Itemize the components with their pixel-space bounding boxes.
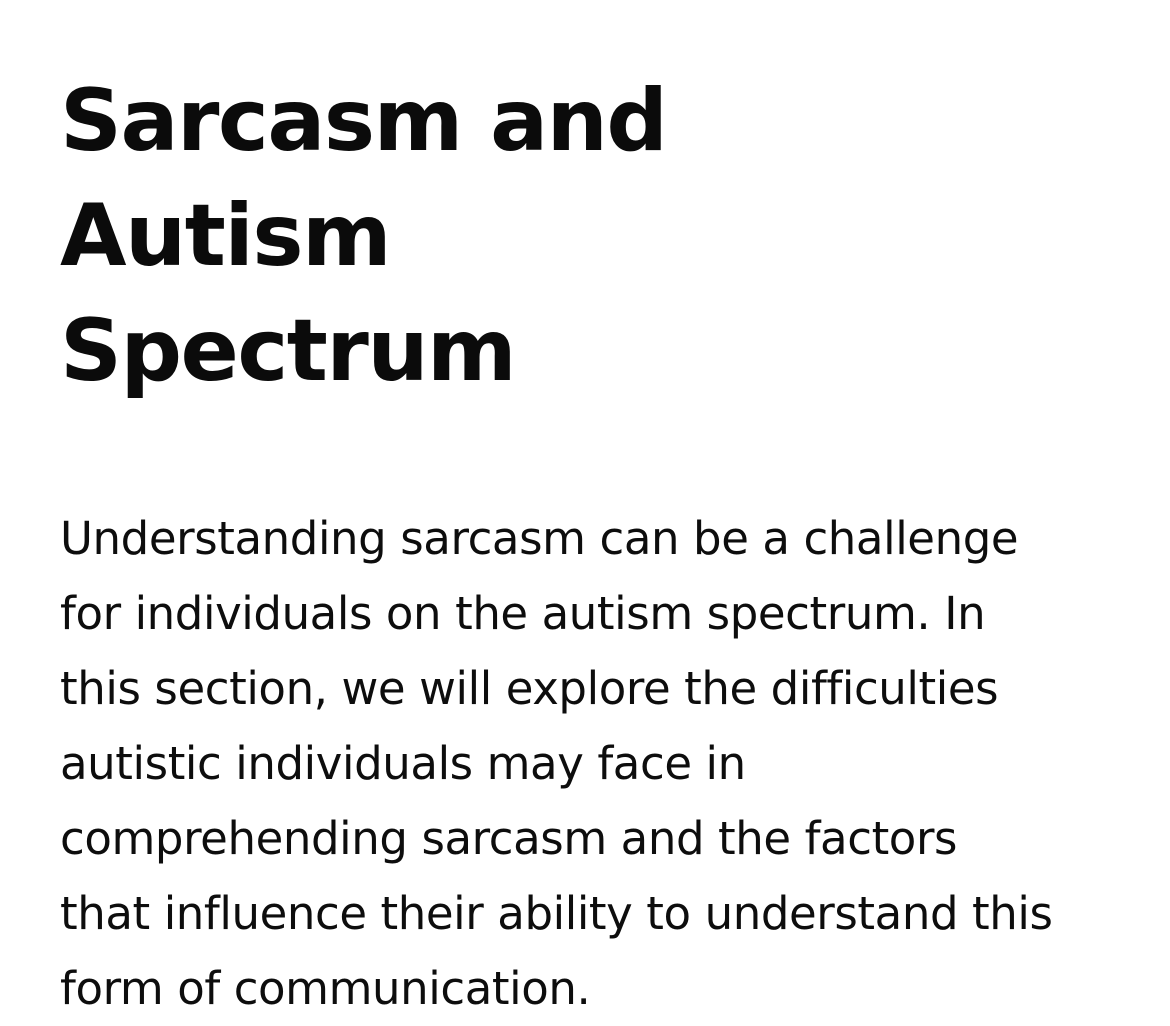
body-line: autistic individuals may face in [60, 726, 1120, 801]
body-line: that influence their ability to understa… [60, 876, 1120, 951]
body-line: this section, we will explore the diffic… [60, 651, 1120, 726]
section-body-paragraph: Understanding sarcasm can be a challenge… [60, 409, 1120, 1026]
content-container: Sarcasm and AutismSpectrum Understanding… [60, 0, 1120, 1026]
body-line: form of communication. [60, 951, 1120, 1026]
body-line: Understanding sarcasm can be a challenge [60, 501, 1120, 576]
body-line: for individuals on the autism spectrum. … [60, 576, 1120, 651]
page-title: Sarcasm and AutismSpectrum [60, 0, 940, 409]
document-page: Sarcasm and AutismSpectrum Understanding… [0, 0, 1170, 924]
body-line: comprehending sarcasm and the factors [60, 801, 1120, 876]
page-title-line-2: Spectrum [60, 301, 515, 401]
page-title-line-1: Sarcasm and Autism [60, 71, 666, 286]
